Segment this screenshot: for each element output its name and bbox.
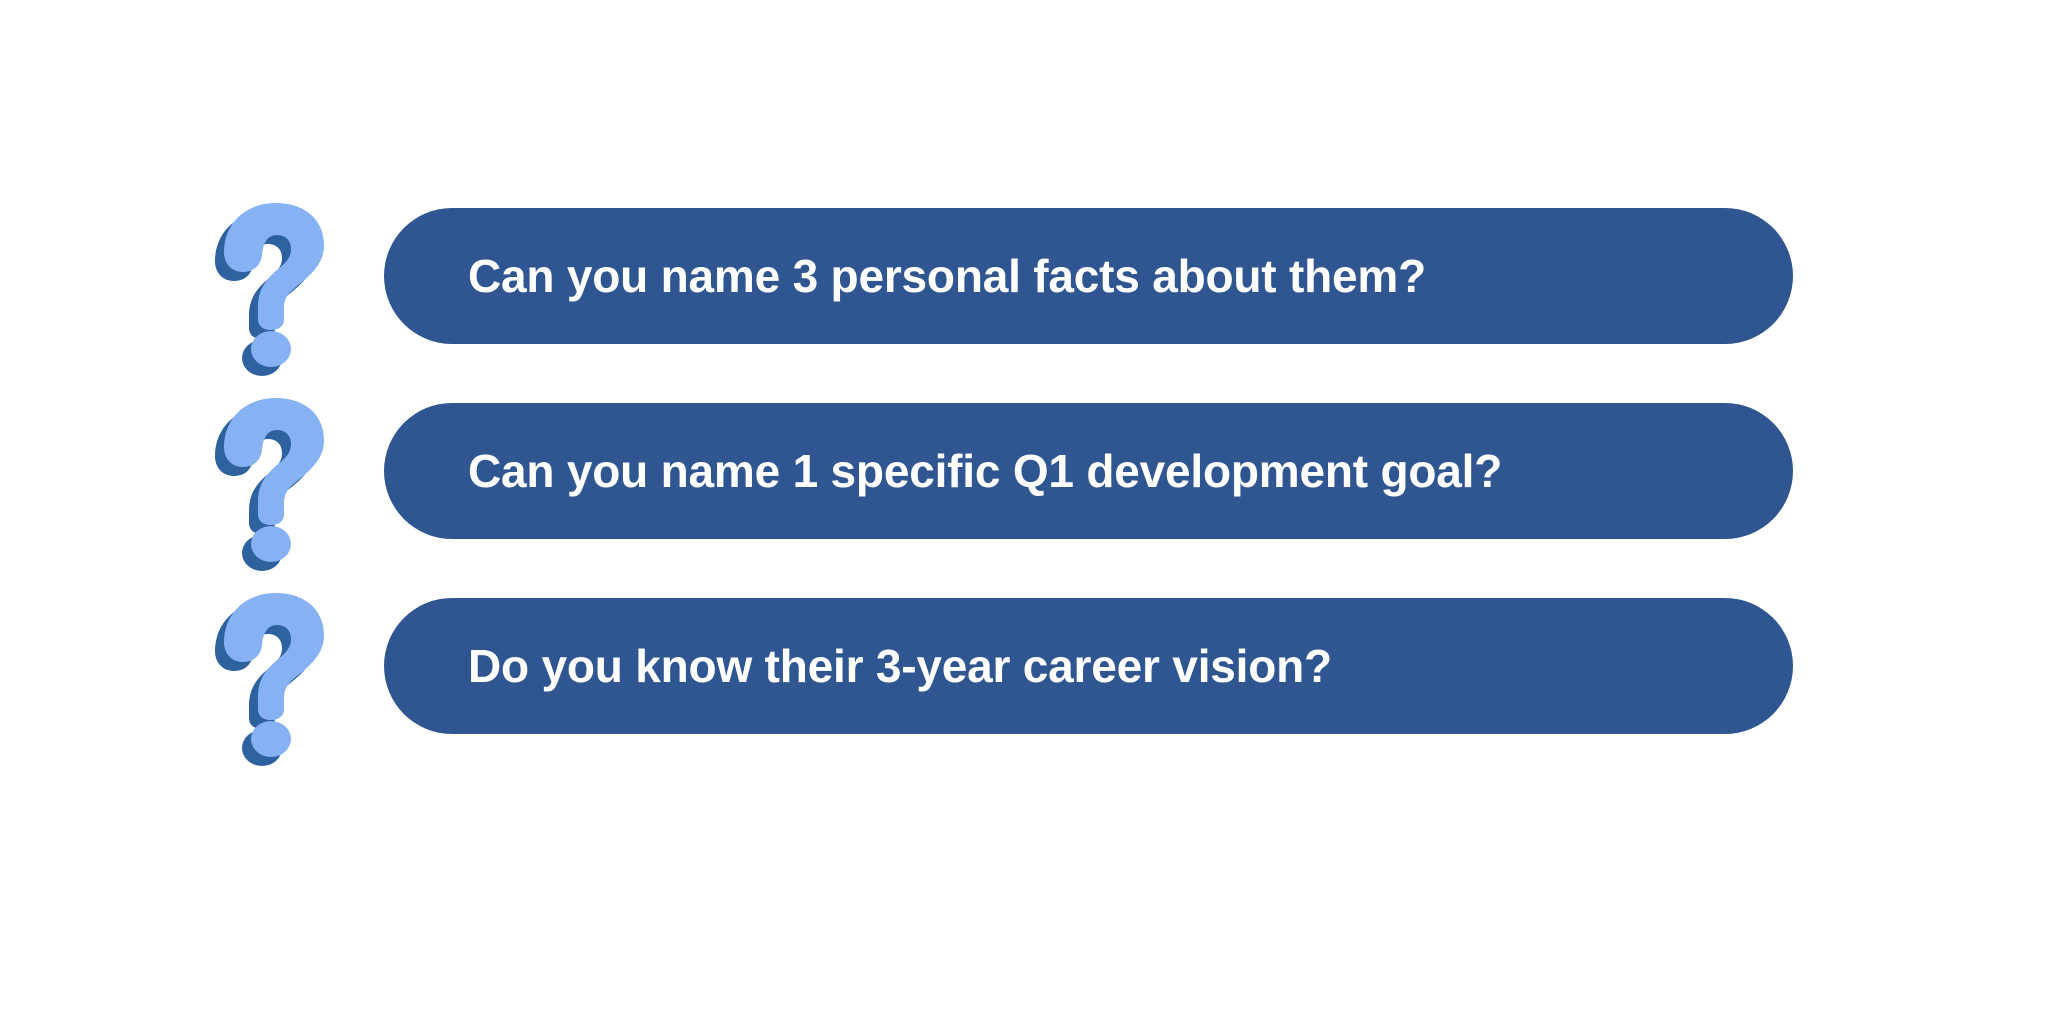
question-pill[interactable]: Can you name 3 personal facts about them… <box>384 208 1793 344</box>
question-mark-stem <box>224 398 324 525</box>
question-pill-label: Do you know their 3-year career vision? <box>468 641 1332 692</box>
question-mark-icon <box>216 394 336 554</box>
question-pill[interactable]: Can you name 1 specific Q1 development g… <box>384 403 1793 539</box>
question-pill-label: Can you name 1 specific Q1 development g… <box>468 446 1502 497</box>
question-mark-stem <box>224 593 324 720</box>
question-pill[interactable]: Do you know their 3-year career vision? <box>384 598 1793 734</box>
question-mark-stem <box>224 203 324 330</box>
question-pill-label: Can you name 3 personal facts about them… <box>468 251 1426 302</box>
question-mark-icon <box>216 589 336 749</box>
question-list-board: Can you name 3 personal facts about them… <box>0 0 2048 1024</box>
question-mark-dot <box>251 331 291 367</box>
question-row[interactable]: Can you name 1 specific Q1 development g… <box>0 403 2048 539</box>
question-rows: Can you name 3 personal facts about them… <box>0 208 2048 734</box>
question-row[interactable]: Do you know their 3-year career vision? <box>0 598 2048 734</box>
question-mark-dot <box>251 526 291 562</box>
question-mark-icon <box>216 199 336 359</box>
question-mark-dot <box>251 721 291 757</box>
question-row[interactable]: Can you name 3 personal facts about them… <box>0 208 2048 344</box>
